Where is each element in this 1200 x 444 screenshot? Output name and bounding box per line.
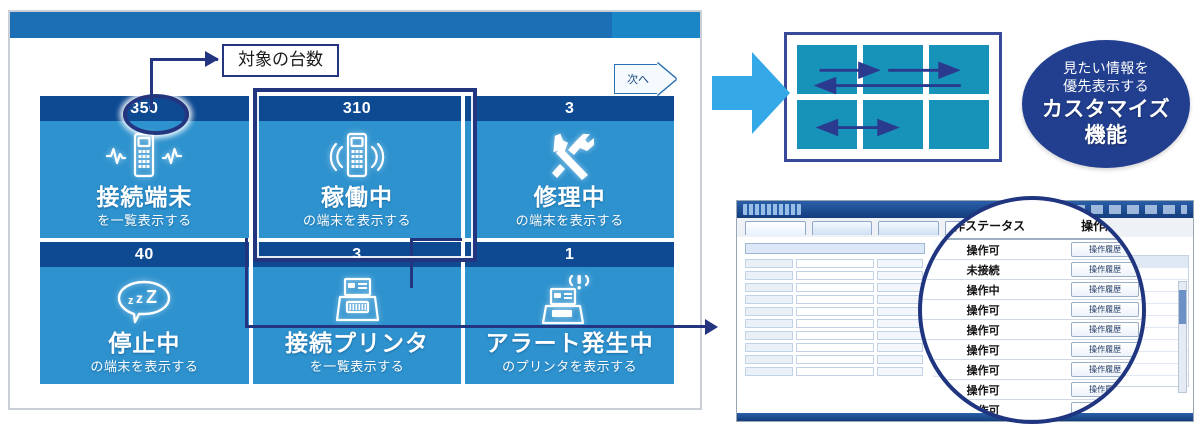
cell-status: 操作可	[918, 400, 1050, 420]
badge-line-2: 優先表示する	[1063, 77, 1149, 95]
cell-history: 操作履歴	[1050, 400, 1146, 420]
cell-status: 操作中	[918, 280, 1050, 300]
magnified-status-table: 操作ステータス 操作履歴 操作可 操作履歴 未接続 操作履歴 操作中 操作履歴	[918, 214, 1146, 420]
cell-status: 操作可	[918, 360, 1050, 380]
dashboard-panel: 次へ 350	[8, 10, 702, 410]
tile-count: 40	[40, 242, 249, 267]
tile-title: 接続プリンタ	[285, 331, 429, 356]
handheld-terminal-signal-icon	[102, 127, 186, 183]
tile-stopped-terminals[interactable]: 40 z z Z	[40, 242, 249, 384]
dashboard-topbar	[10, 12, 700, 38]
diagram-cell	[863, 100, 923, 149]
history-button[interactable]: 操作履歴	[1071, 402, 1139, 417]
tile-count: 3	[465, 96, 674, 121]
connector-segment-vertical-1	[245, 238, 248, 328]
cell-status: 操作可	[918, 340, 1050, 360]
diagram-cell	[929, 45, 989, 94]
column-header-history: 操作履歴	[1050, 214, 1146, 239]
tile-count: 1	[465, 242, 674, 267]
handheld-terminal-active-icon	[320, 127, 394, 183]
diagram-cell	[929, 100, 989, 149]
app-form-row	[745, 367, 923, 376]
app-form-row	[745, 343, 923, 352]
tile-subtitle: を一覧表示する	[310, 359, 405, 375]
app-logo	[743, 204, 801, 215]
diagram-cell	[797, 100, 857, 149]
history-button[interactable]: 操作履歴	[1071, 322, 1139, 337]
table-row: 操作可 操作履歴	[918, 400, 1146, 420]
tile-title: 接続端末	[96, 185, 192, 210]
cell-history: 操作履歴	[1050, 340, 1146, 360]
tile-active-terminals[interactable]: 310	[253, 96, 462, 238]
cell-history: 操作履歴	[1050, 380, 1146, 400]
history-button[interactable]: 操作履歴	[1071, 342, 1139, 357]
app-form-row	[745, 259, 923, 268]
app-search-input[interactable]	[745, 243, 925, 254]
callout-leader-vertical	[150, 58, 153, 110]
tile-count: 3	[253, 242, 462, 267]
app-form-row	[745, 331, 923, 340]
next-button[interactable]: 次へ	[614, 64, 676, 94]
tile-title: アラート発生中	[486, 331, 654, 356]
tile-body: z z Z 停止中 の端末を表示する	[40, 267, 249, 384]
cell-history: 操作履歴	[1050, 239, 1146, 260]
badge-strong-2: 機能	[1085, 124, 1128, 149]
diagram-grid	[797, 45, 989, 149]
cell-status: 操作可	[918, 380, 1050, 400]
app-scrollbar[interactable]	[1178, 281, 1187, 393]
app-tab[interactable]	[745, 221, 806, 235]
app-form-row	[745, 355, 923, 364]
badge-strong-1: カスタマイズ	[1042, 98, 1170, 123]
cell-history: 操作履歴	[1050, 300, 1146, 320]
tile-body: 稼働中 の端末を表示する	[253, 121, 462, 238]
table-row: 未接続 操作履歴	[918, 260, 1146, 280]
diagram-cell	[797, 45, 857, 94]
connector-segment-horizontal-2	[410, 238, 462, 241]
tile-count: 310	[253, 96, 462, 121]
app-form-row	[745, 319, 923, 328]
app-form-row	[745, 295, 923, 304]
diagram-cell	[863, 45, 923, 94]
svg-text:Z: Z	[146, 287, 157, 307]
cell-status: 操作可	[918, 300, 1050, 320]
cell-history: 操作履歴	[1050, 320, 1146, 340]
flow-arrow-icon	[712, 48, 790, 138]
customize-feature-badge: 見たい情報を 優先表示する カスタマイズ 機能	[1022, 40, 1190, 168]
app-form-rows	[745, 259, 923, 379]
table-row: 操作可 操作履歴	[918, 340, 1146, 360]
tile-title: 修理中	[534, 185, 606, 210]
tile-under-repair[interactable]: 3 修理中 の端末を表示する	[465, 96, 674, 238]
history-button[interactable]: 操作履歴	[1071, 262, 1139, 277]
tile-body: 修理中 の端末を表示する	[465, 121, 674, 238]
next-button-label: 次へ	[614, 64, 662, 94]
table-row: 操作可 操作履歴	[918, 360, 1146, 380]
tile-alert-printers[interactable]: 1	[465, 242, 674, 384]
connector-segment-horizontal-1	[245, 325, 711, 328]
connector-arrow-icon	[705, 319, 718, 335]
history-button[interactable]: 操作履歴	[1071, 302, 1139, 317]
app-form-row	[745, 271, 923, 280]
tile-connected-printers[interactable]: 3	[253, 242, 462, 384]
cell-status: 操作可	[918, 239, 1050, 260]
tile-body: 接続端末 を一覧表示する	[40, 121, 249, 238]
callout-label: 対象の台数	[222, 44, 339, 77]
tile-title: 停止中	[108, 331, 180, 356]
tile-subtitle: の端末を表示する	[303, 213, 411, 229]
app-filter-panel	[745, 243, 925, 393]
connector-segment-vertical-2	[410, 238, 413, 288]
tile-title: 稼働中	[321, 185, 393, 210]
badge-line-1: 見たい情報を	[1063, 59, 1149, 77]
cell-history: 操作履歴	[1050, 360, 1146, 380]
history-button[interactable]: 操作履歴	[1071, 362, 1139, 377]
table-row: 操作可 操作履歴	[918, 320, 1146, 340]
magnifier-lens: 操作ステータス 操作履歴 操作可 操作履歴 未接続 操作履歴 操作中 操作履歴	[918, 196, 1146, 424]
screenshot-root: 次へ 350	[0, 0, 1200, 444]
svg-text:z: z	[128, 295, 134, 307]
tile-subtitle: の端末を表示する	[516, 213, 624, 229]
app-tab[interactable]	[812, 221, 873, 235]
svg-text:z: z	[136, 290, 143, 306]
history-button[interactable]: 操作履歴	[1071, 282, 1139, 297]
app-scrollbar-thumb[interactable]	[1179, 290, 1186, 324]
callout-arrow-icon	[205, 51, 219, 67]
tile-grid: 350	[40, 96, 674, 384]
tile-subtitle: の端末を表示する	[90, 359, 198, 375]
printer-alert-icon	[537, 273, 603, 329]
tile-subtitle: を一覧表示する	[97, 213, 192, 229]
magnified-table-header-row: 操作ステータス 操作履歴	[918, 214, 1146, 239]
history-button[interactable]: 操作履歴	[1071, 382, 1139, 397]
printer-icon	[328, 273, 386, 329]
cell-status: 未接続	[918, 260, 1050, 280]
cell-history: 操作履歴	[1050, 260, 1146, 280]
table-row: 操作可 操作履歴	[918, 239, 1146, 260]
table-row: 操作可 操作履歴	[918, 380, 1146, 400]
column-header-status: 操作ステータス	[918, 214, 1050, 239]
topbar-right-segment	[612, 12, 700, 38]
table-row: 操作中 操作履歴	[918, 280, 1146, 300]
app-form-row	[745, 283, 923, 292]
cell-status: 操作可	[918, 320, 1050, 340]
tile-subtitle: のプリンタを表示する	[502, 359, 637, 375]
app-form-row	[745, 307, 923, 316]
customize-layout-diagram	[784, 32, 1002, 162]
table-row: 操作可 操作履歴	[918, 300, 1146, 320]
sleep-zzz-bubble-icon: z z Z	[113, 273, 175, 329]
history-button[interactable]: 操作履歴	[1071, 242, 1139, 257]
wrench-screwdriver-icon	[541, 127, 599, 183]
cell-history: 操作履歴	[1050, 280, 1146, 300]
count-highlight-ellipse	[123, 94, 189, 135]
